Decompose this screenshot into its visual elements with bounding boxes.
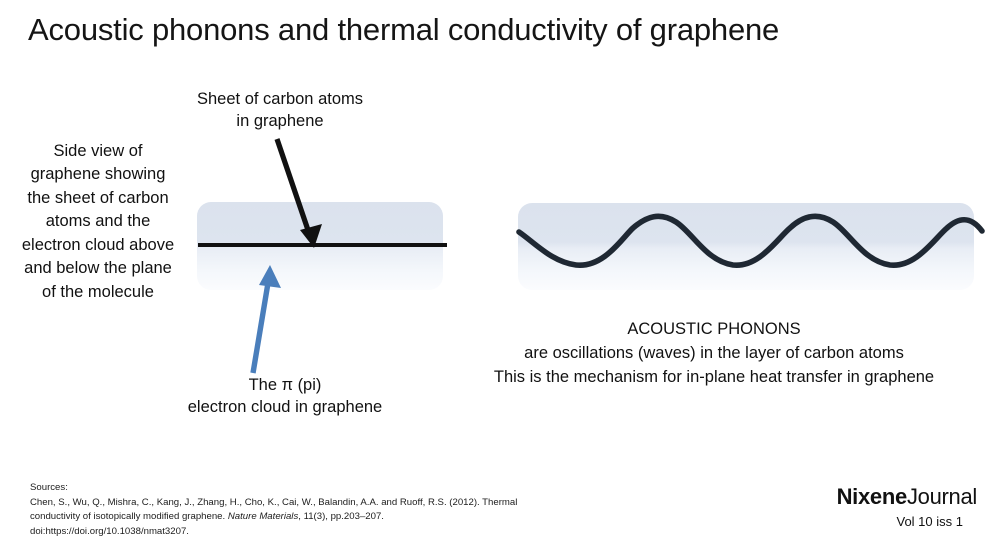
sheet-callout-line-2: in graphene <box>150 110 410 132</box>
journal-name-bold: Nixene <box>837 484 907 509</box>
citation-line-1: Chen, S., Wu, Q., Mishra, C., Kang, J., … <box>30 496 640 511</box>
journal-logo: NixeneJournal Vol 10 iss 1 <box>837 484 977 529</box>
page-title: Acoustic phonons and thermal conductivit… <box>28 12 972 48</box>
pi-electron-cloud-callout: The π (pi) electron cloud in graphene <box>140 374 430 419</box>
citation-journal-title: Nature Materials <box>228 511 298 522</box>
sheet-of-carbon-callout: Sheet of carbon atoms in graphene <box>150 88 410 133</box>
citation-line-2-post: , 11(3), pp.203–207. <box>298 511 384 522</box>
side-view-caption: Side view of graphene showing the sheet … <box>18 140 178 304</box>
sources-block: Sources: Chen, S., Wu, Q., Mishra, C., K… <box>30 481 640 539</box>
citation-doi[interactable]: doi:https://doi.org/10.1038/nmat3207. <box>30 525 640 540</box>
pi-callout-line-1: The π (pi) <box>140 374 430 396</box>
phonon-caption-line-3: This is the mechanism for in-plane heat … <box>430 366 998 390</box>
journal-name: NixeneJournal <box>837 484 977 510</box>
sources-heading: Sources: <box>30 481 640 496</box>
pi-callout-line-2: electron cloud in graphene <box>140 396 430 418</box>
sheet-callout-line-1: Sheet of carbon atoms <box>150 88 410 110</box>
phonon-caption-line-2: are oscillations (waves) in the layer of… <box>430 342 998 366</box>
graphene-sheet-line-graphic <box>198 243 447 247</box>
electron-cloud-right-graphic <box>518 203 974 290</box>
citation-line-2-pre: conductivity of isotopically modified gr… <box>30 511 228 522</box>
journal-volume-issue: Vol 10 iss 1 <box>837 514 963 529</box>
acoustic-phonons-caption: ACOUSTIC PHONONS are oscillations (waves… <box>430 318 998 390</box>
journal-name-light: Journal <box>907 484 977 509</box>
citation-line-2: conductivity of isotopically modified gr… <box>30 510 640 525</box>
phonon-caption-line-1: ACOUSTIC PHONONS <box>430 318 998 342</box>
